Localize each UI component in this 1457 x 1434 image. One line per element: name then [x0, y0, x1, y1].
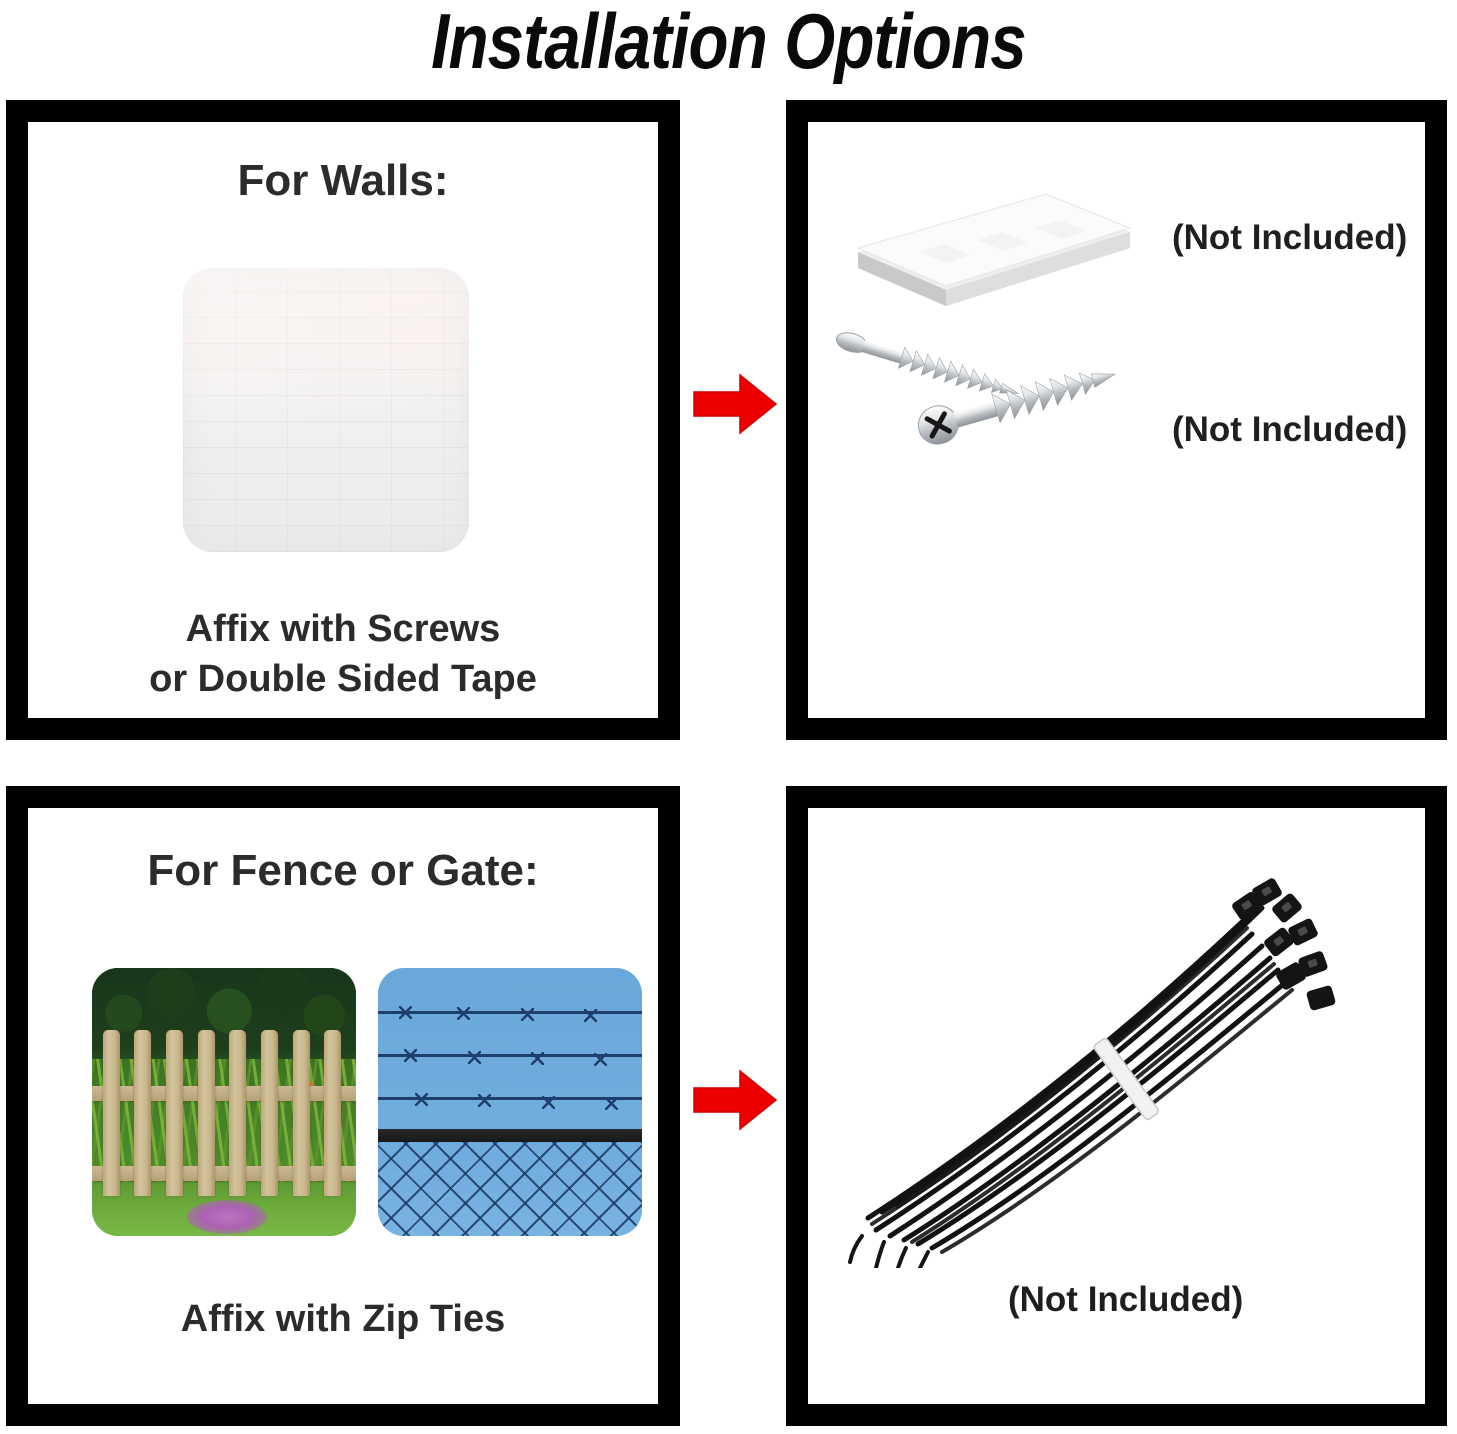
barb	[521, 1008, 534, 1021]
chain-link-mesh	[378, 1142, 642, 1236]
panel-hardware: (Not Included)	[786, 100, 1447, 740]
fence-caption: Affix with Zip Ties	[28, 1294, 658, 1344]
wooden-picket-fence-photo	[92, 968, 356, 1236]
barb	[594, 1053, 607, 1066]
walls-caption-line2: or Double Sided Tape	[28, 654, 658, 704]
purple-flower-patch	[187, 1200, 267, 1234]
barb	[584, 1009, 597, 1022]
tape-not-included-label: (Not Included)	[1172, 218, 1407, 258]
double-sided-tape-stack	[850, 156, 1138, 326]
barb	[404, 1049, 417, 1062]
barb	[399, 1006, 412, 1019]
barb	[457, 1007, 470, 1020]
fence-rail-upper	[92, 1086, 356, 1101]
red-right-arrow	[692, 372, 778, 436]
fence-rail-lower	[92, 1166, 356, 1181]
panel-hardware-content: (Not Included)	[808, 122, 1425, 718]
fence-picket	[134, 1030, 151, 1196]
zipties-not-included-label: (Not Included)	[1008, 1280, 1243, 1320]
panel-for-fence-or-gate: For Fence or Gate:	[6, 786, 680, 1426]
barb	[478, 1094, 491, 1107]
fence-picket	[293, 1030, 310, 1196]
barb	[605, 1097, 618, 1110]
fence-picket	[261, 1030, 278, 1196]
red-right-arrow	[692, 1068, 778, 1132]
barb	[415, 1093, 428, 1106]
fence-picket	[198, 1030, 215, 1196]
panel-for-walls: For Walls: Affix with Screws or Double S…	[6, 100, 680, 740]
barbed-wire-strand	[378, 1011, 642, 1014]
for-fence-heading: For Fence or Gate:	[28, 846, 658, 896]
panel-zip-ties: (Not Included)	[786, 786, 1447, 1426]
barb	[531, 1052, 544, 1065]
white-brick-wall-photo	[183, 268, 469, 552]
chain-link-fence-photo	[378, 968, 642, 1236]
fence-top-rail	[378, 1129, 642, 1142]
panel-for-fence-content: For Fence or Gate:	[28, 808, 658, 1404]
fence-picket	[229, 1030, 246, 1196]
for-walls-heading: For Walls:	[28, 156, 658, 206]
barb	[542, 1096, 555, 1109]
fence-picket	[103, 1030, 120, 1196]
panel-for-walls-content: For Walls: Affix with Screws or Double S…	[28, 122, 658, 718]
walls-caption-line1: Affix with Screws	[28, 604, 658, 654]
panel-zip-ties-content: (Not Included)	[808, 808, 1425, 1404]
wood-screws	[830, 318, 1170, 498]
screws-not-included-label: (Not Included)	[1172, 410, 1407, 450]
fence-picket	[324, 1030, 341, 1196]
wall-sheen-overlay	[183, 268, 469, 552]
fence-picket	[166, 1030, 183, 1196]
barb	[468, 1051, 481, 1064]
page-title: Installation Options	[117, 0, 1341, 88]
black-zip-tie-bundle	[838, 838, 1358, 1268]
